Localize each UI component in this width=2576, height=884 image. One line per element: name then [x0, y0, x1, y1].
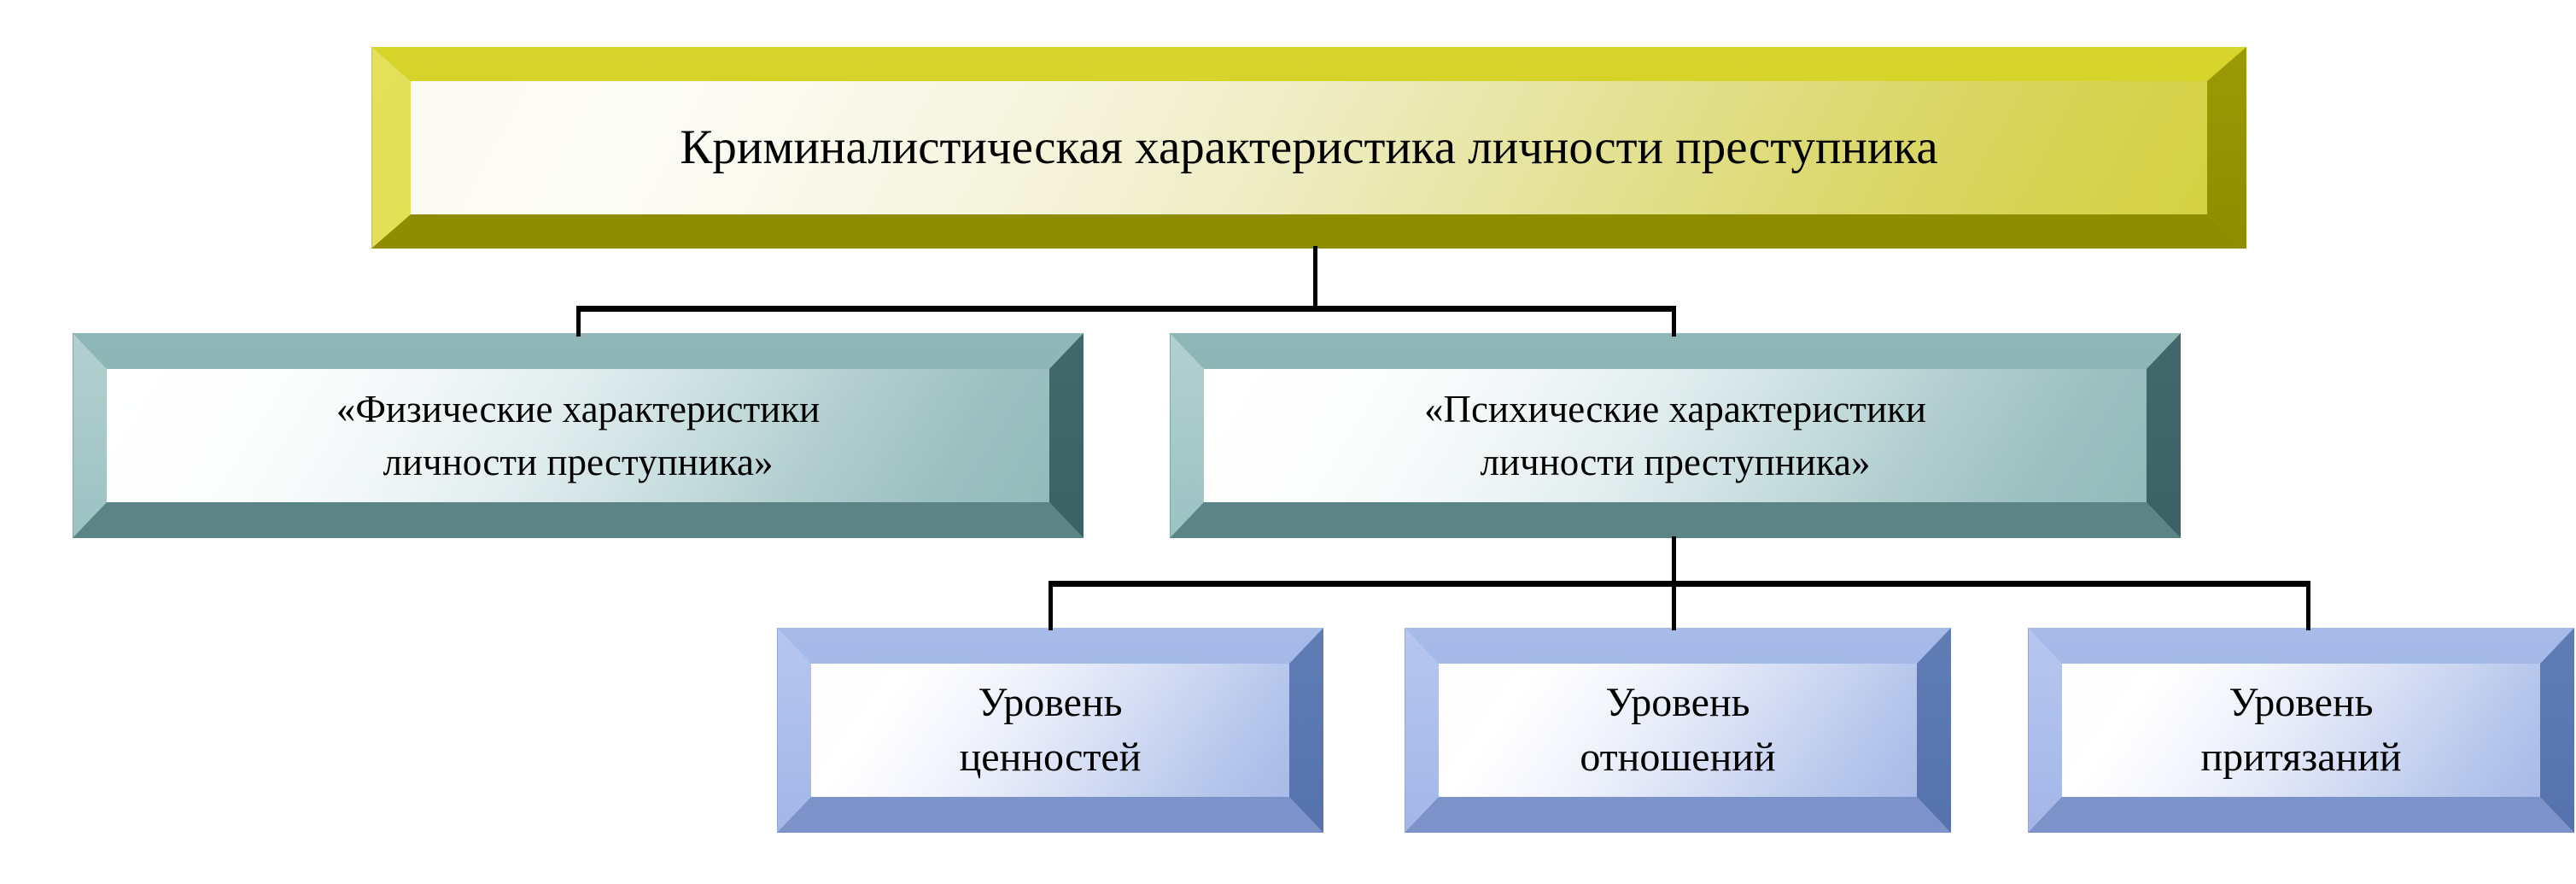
node-values-label: Уровень ценностей [811, 676, 1289, 786]
connector-tier2-horizontal-bar [1049, 581, 2310, 587]
connector-root-to-psychic [1672, 306, 1676, 337]
connector-psychic-stem [1672, 536, 1676, 586]
node-physical-face: «Физические характеристики личности прес… [107, 369, 1049, 502]
connector-root-stem [1313, 246, 1317, 311]
node-relations-face: Уровень отношений [1439, 664, 1917, 797]
diagram-canvas: Криминалистическая характеристика личнос… [0, 0, 2576, 884]
node-level-of-values[interactable]: Уровень ценностей [777, 628, 1323, 833]
node-claims-face: Уровень притязаний [2062, 664, 2540, 797]
connector-psychic-to-claims [2306, 581, 2310, 630]
node-physical-characteristics[interactable]: «Физические характеристики личности прес… [73, 333, 1084, 538]
node-relations-label: Уровень отношений [1439, 676, 1917, 786]
node-claims-label: Уровень притязаний [2062, 676, 2540, 786]
node-psychic-label: «Психические характеристики личности пре… [1204, 383, 2147, 489]
node-psychic-face: «Психические характеристики личности пре… [1204, 369, 2147, 502]
node-physical-label: «Физические характеристики личности прес… [107, 383, 1049, 489]
node-root-label: Криминалистическая характеристика личнос… [411, 121, 2207, 174]
connector-root-to-physical [576, 306, 581, 337]
node-root-criminalistic-characteristic[interactable]: Криминалистическая характеристика личнос… [371, 47, 2246, 249]
connector-tier1-horizontal-bar [576, 306, 1676, 312]
node-level-of-relations[interactable]: Уровень отношений [1405, 628, 1951, 833]
node-level-of-claims[interactable]: Уровень притязаний [2028, 628, 2574, 833]
node-values-face: Уровень ценностей [811, 664, 1289, 797]
connector-psychic-to-values [1049, 581, 1053, 630]
node-root-face: Криминалистическая характеристика личнос… [411, 81, 2207, 214]
connector-psychic-to-relations [1672, 581, 1676, 630]
node-psychic-characteristics[interactable]: «Психические характеристики личности пре… [1170, 333, 2181, 538]
